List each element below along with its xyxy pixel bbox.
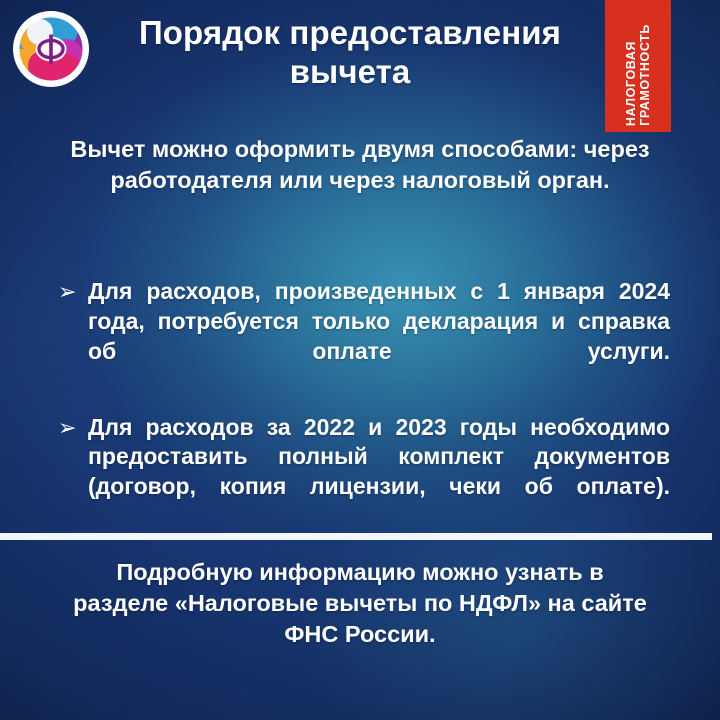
section-divider	[0, 533, 712, 540]
list-item-text: Для расходов, произведенных с 1 января 2…	[88, 277, 670, 397]
list-item: ➢ Для расходов за 2022 и 2023 годы необх…	[58, 413, 670, 533]
tax-literacy-banner: НАЛОГОВАЯ ГРАМОТНОСТЬ	[605, 0, 671, 132]
chevron-bullet-icon: ➢	[58, 277, 88, 306]
list-item: ➢ Для расходов, произведенных с 1 января…	[58, 277, 670, 397]
slide-canvas: НАЛОГОВАЯ ГРАМОТНОСТЬ Порядок предоставл…	[0, 0, 720, 720]
page-title: Порядок предоставления вычета	[96, 14, 604, 92]
chevron-bullet-icon: ➢	[58, 413, 88, 442]
fns-logo	[10, 8, 92, 90]
banner-line-1: НАЛОГОВАЯ	[625, 41, 638, 126]
list-item-text: Для расходов за 2022 и 2023 годы необход…	[88, 413, 670, 533]
subtitle-text: Вычет можно оформить двумя способами: че…	[62, 134, 658, 195]
footer-text: Подробную информацию можно узнать в разд…	[70, 557, 650, 650]
bullet-list: ➢ Для расходов, произведенных с 1 января…	[58, 277, 670, 532]
banner-line-2: ГРАМОТНОСТЬ	[639, 24, 652, 126]
